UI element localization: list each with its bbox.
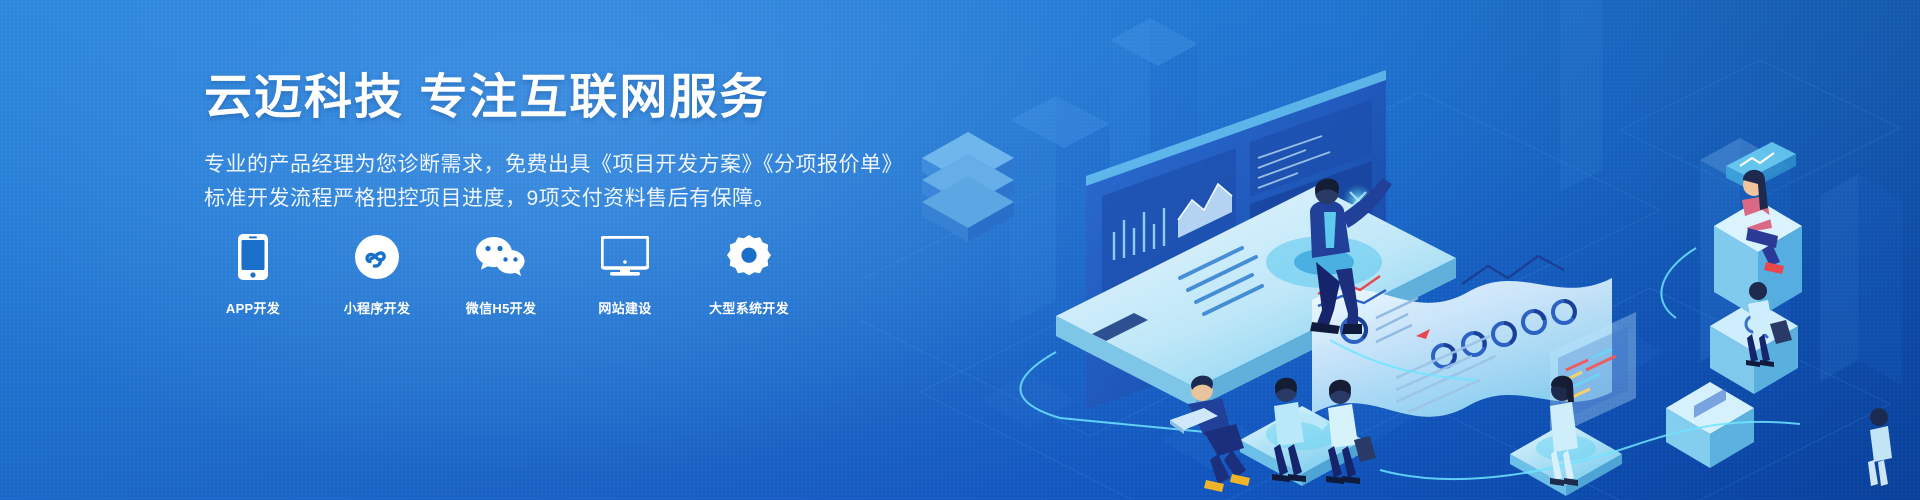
- mini-program-icon: [328, 232, 426, 282]
- wechat-icon: [452, 232, 550, 282]
- page-title: 云迈科技 专注互联网服务: [204, 70, 924, 126]
- service-item-app[interactable]: APP开发: [204, 232, 302, 317]
- service-label: 小程序开发: [328, 298, 426, 317]
- promo-banner: 云迈科技 专注互联网服务 专业的产品经理为您诊断需求，免费出具《项目开发方案》《…: [0, 0, 1920, 500]
- service-label: 网站建设: [576, 298, 674, 317]
- service-label: 大型系统开发: [700, 298, 798, 317]
- mobile-phone-icon: [204, 232, 302, 282]
- gear-icon: [700, 232, 798, 282]
- service-item-website[interactable]: 网站建设: [576, 232, 674, 317]
- service-item-wechat-h5[interactable]: 微信H5开发: [452, 232, 550, 317]
- monitor-icon: [576, 232, 674, 282]
- service-list: APP开发 小程序开发: [204, 232, 798, 317]
- service-label: 微信H5开发: [452, 298, 550, 317]
- illustration: [860, 0, 1920, 500]
- service-label: APP开发: [204, 298, 302, 317]
- service-item-large-system[interactable]: 大型系统开发: [700, 232, 798, 317]
- subtitle-line-2: 标准开发流程严格把控项目进度，9项交付资料售后有保障。: [204, 182, 924, 216]
- subtitle-line-1: 专业的产品经理为您诊断需求，免费出具《项目开发方案》《分项报价单》: [204, 148, 924, 182]
- service-item-mini-program[interactable]: 小程序开发: [328, 232, 426, 317]
- headline-block: 云迈科技 专注互联网服务 专业的产品经理为您诊断需求，免费出具《项目开发方案》《…: [204, 70, 924, 216]
